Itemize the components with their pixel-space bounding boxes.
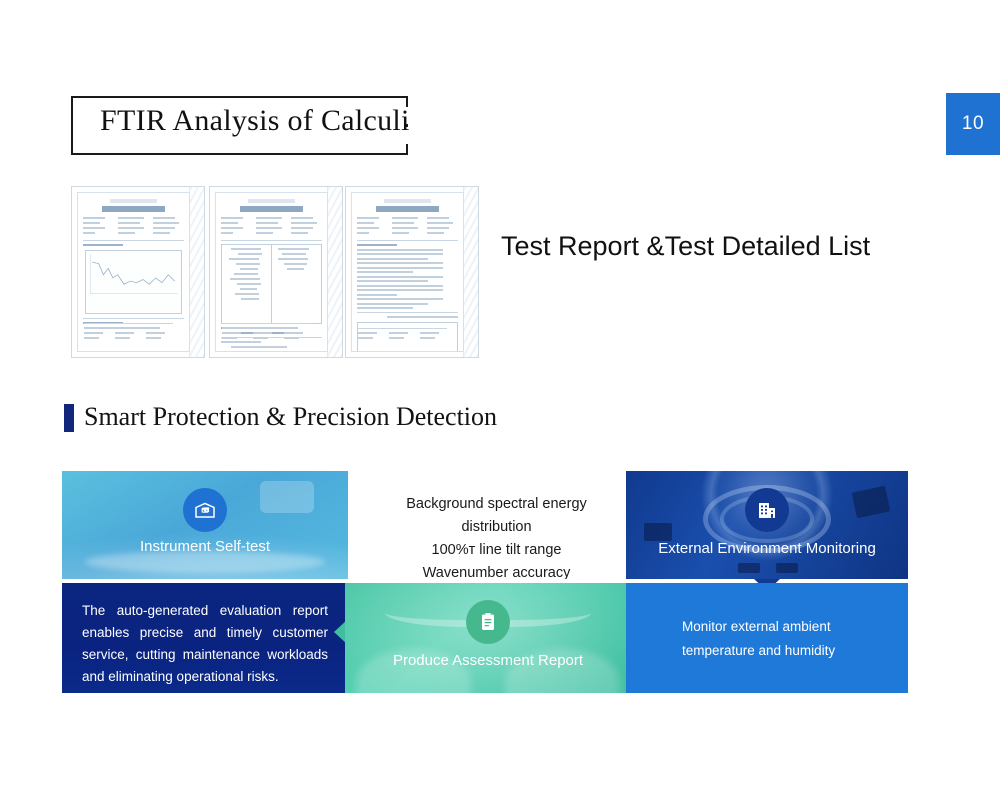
torn-edge-decoration	[463, 187, 478, 357]
document-subheading	[83, 244, 123, 246]
feature-grid: Instrument Self-test Background spectral…	[62, 471, 908, 693]
panel-caption: Produce Assessment Report	[345, 652, 631, 669]
document-logo	[248, 199, 294, 203]
panel-caption: Instrument Self-test	[62, 538, 348, 555]
document-thumbnail-2[interactable]	[209, 186, 343, 358]
document-title-bar	[376, 206, 439, 212]
detail-table	[221, 244, 322, 324]
ambient-monitoring-description: Monitor external ambient temperature and…	[682, 615, 888, 663]
section-marker	[64, 404, 74, 432]
spectrum-chart-thumbnail	[85, 250, 182, 314]
detail-table-column-left	[222, 245, 271, 323]
document-page-2	[215, 192, 328, 352]
document-title-bar	[240, 206, 303, 212]
ambient-line-2: temperature and humidity	[682, 639, 888, 663]
document-field-row	[221, 217, 322, 237]
document-paragraphs	[357, 244, 458, 309]
background-shape	[260, 481, 314, 513]
panel-external-environment-monitoring[interactable]: External Environment Monitoring	[626, 471, 908, 579]
evaluation-report-description: The auto-generated evaluation report ena…	[82, 600, 328, 688]
document-footer	[84, 320, 173, 345]
document-field-row	[357, 217, 458, 237]
document-page-1	[77, 192, 190, 352]
report-heading: Test Report &Test Detailed List	[501, 231, 870, 262]
panel-produce-assessment-report[interactable]: Produce Assessment Report	[345, 583, 631, 693]
monitor-decoration	[738, 563, 760, 573]
panel-self-test-details: Background spectral energy distribution …	[348, 471, 631, 579]
monitor-decoration	[852, 486, 891, 519]
medical-kit-icon	[183, 488, 227, 532]
document-field-row	[83, 217, 184, 237]
page-title: FTIR Analysis of Calculi	[100, 104, 410, 138]
document-logo	[384, 199, 430, 203]
document-logo	[110, 199, 156, 203]
document-page-3	[351, 192, 464, 352]
document-footer	[358, 325, 447, 345]
clipboard-icon	[466, 600, 510, 644]
detail-table-column-right	[271, 245, 321, 323]
detail-line-1: Background spectral energy distribution	[374, 493, 619, 539]
building-icon	[745, 488, 789, 532]
page-number-badge: 10	[946, 93, 1000, 155]
self-test-detail-text: Background spectral energy distribution …	[374, 493, 619, 579]
monitor-decoration	[644, 523, 672, 541]
monitor-decoration	[776, 563, 798, 573]
page-number-label: 10	[962, 113, 984, 135]
panel-ambient-monitoring-text: Monitor external ambient temperature and…	[626, 583, 908, 693]
section-heading: Smart Protection & Precision Detection	[84, 402, 497, 432]
panel-caption: External Environment Monitoring	[626, 540, 908, 557]
detail-line-2: 100%т line tilt range	[374, 539, 619, 562]
detail-line-3: Wavenumber accuracy	[374, 562, 619, 579]
ambient-line-1: Monitor external ambient	[682, 615, 888, 639]
panel-evaluation-report-text: The auto-generated evaluation report ena…	[62, 583, 348, 693]
panel-instrument-self-test[interactable]: Instrument Self-test	[62, 471, 348, 579]
document-thumbnail-1[interactable]	[71, 186, 205, 358]
torn-edge-decoration	[189, 187, 204, 357]
document-thumbnail-3[interactable]	[345, 186, 479, 358]
torn-edge-decoration	[327, 187, 342, 357]
document-footer	[222, 320, 311, 345]
document-title-bar	[102, 206, 165, 212]
